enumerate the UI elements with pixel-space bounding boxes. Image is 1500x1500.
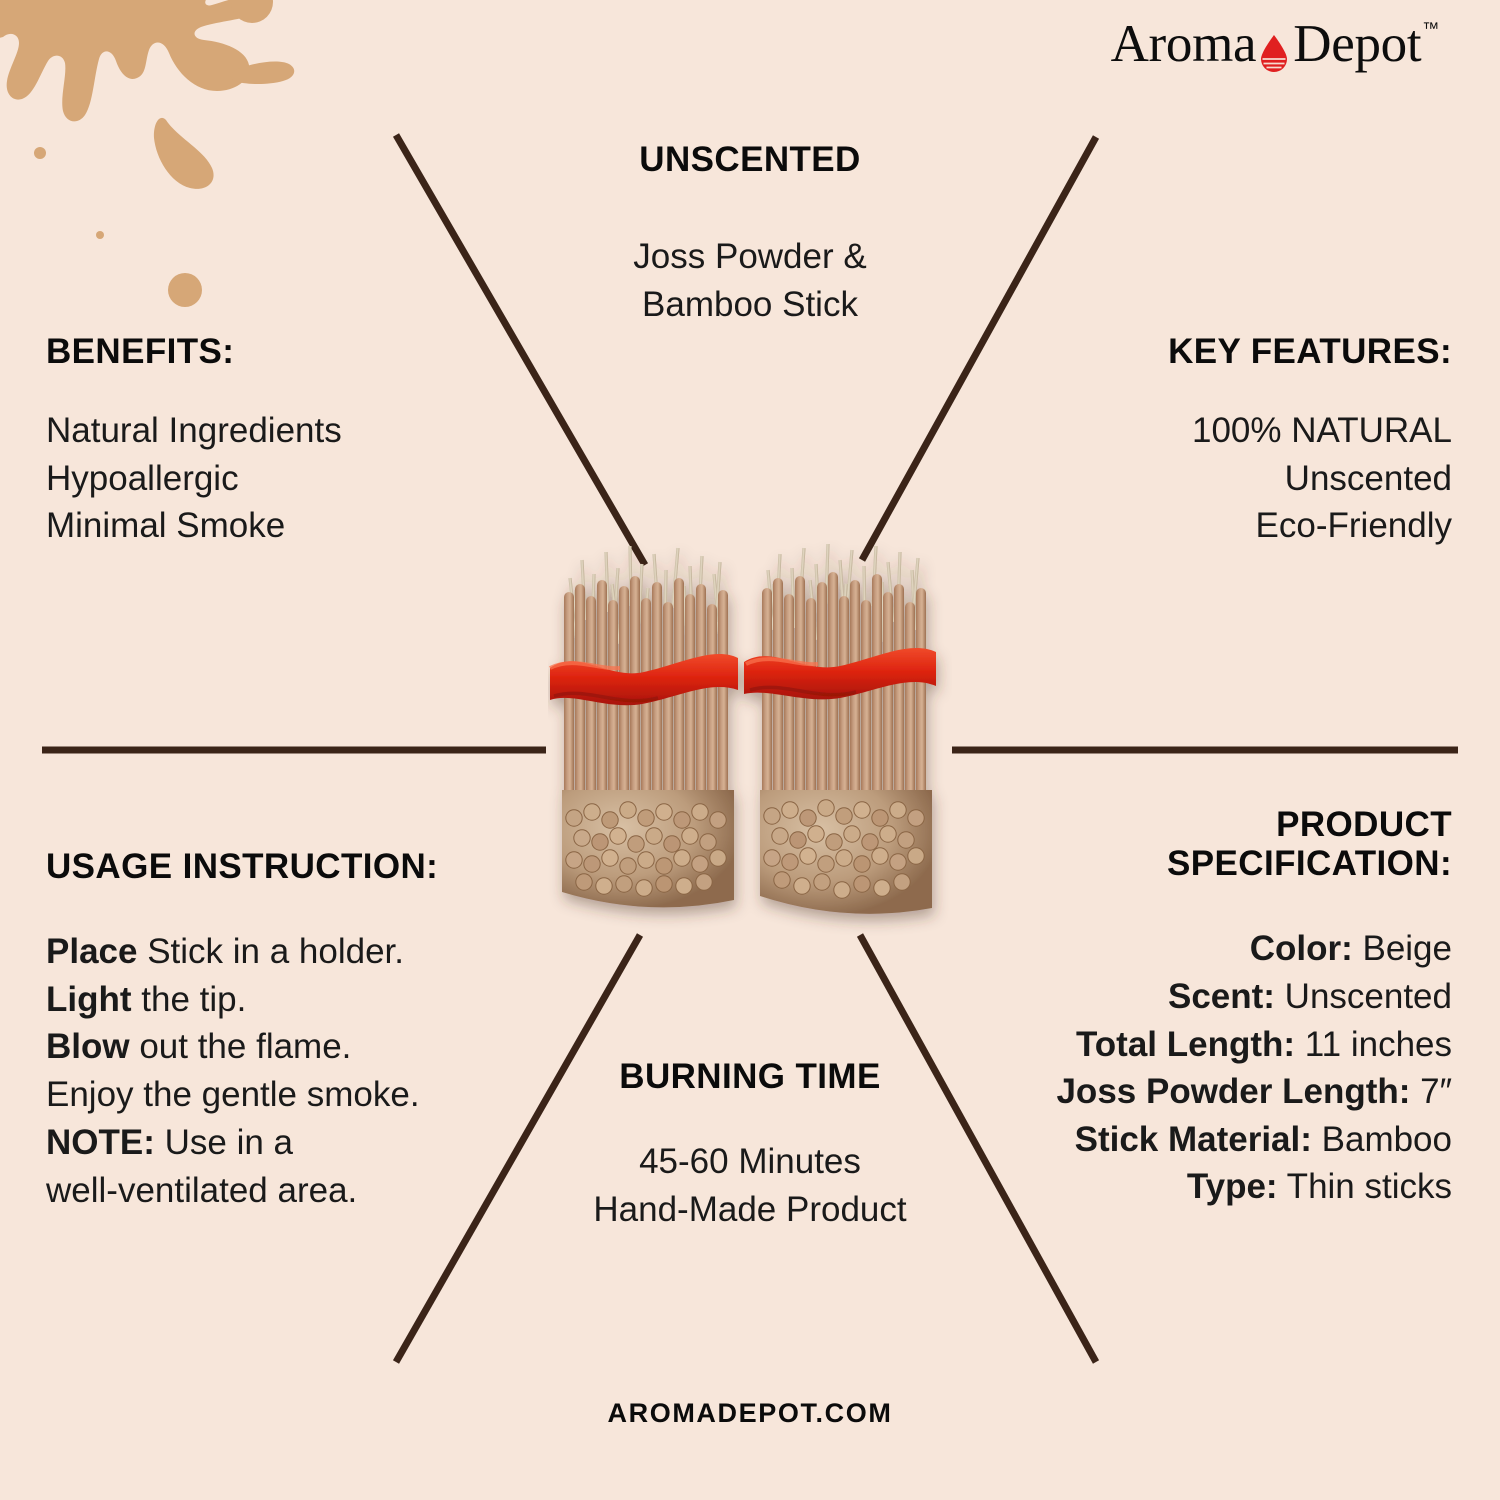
usage-step-3-keyword: Blow	[46, 1027, 130, 1066]
spec-label-joss-powder-length: Joss Powder Length:	[1056, 1072, 1410, 1111]
usage-step-5-text: Use in a	[155, 1123, 293, 1162]
spec-row-color: Color: Beige	[1056, 925, 1452, 973]
burning-time-line-1: 45-60 Minutes	[455, 1138, 1045, 1186]
spec-value-scent: Unscented	[1275, 977, 1452, 1016]
usage-step-3-text: out the flame.	[130, 1027, 352, 1066]
benefits-heading: BENEFITS:	[46, 332, 342, 373]
usage-step-6: well-ventilated area.	[46, 1167, 438, 1215]
spec-row-type: Type: Thin sticks	[1056, 1163, 1452, 1211]
section-burning-time: BURNING TIME 45-60 Minutes Hand-Made Pro…	[455, 1057, 1045, 1233]
brand-name-second: Depot	[1293, 18, 1421, 71]
usage-step-4-text: Enjoy the gentle smoke.	[46, 1075, 420, 1114]
usage-step-3: Blow out the flame.	[46, 1023, 438, 1071]
spec-value-total-length: 11 inches	[1295, 1025, 1452, 1064]
key-features-item-3: Eco-Friendly	[1168, 502, 1452, 550]
brand-name-first: Aroma	[1111, 18, 1257, 71]
usage-step-5: NOTE: Use in a	[46, 1119, 438, 1167]
spec-label-color: Color:	[1250, 929, 1353, 968]
benefits-item-3: Minimal Smoke	[46, 502, 342, 550]
section-usage-instruction: USAGE INSTRUCTION: Place Stick in a hold…	[46, 847, 438, 1215]
trademark-symbol: ™	[1422, 20, 1439, 37]
spec-heading-line-2: SPECIFICATION:	[1056, 844, 1452, 883]
key-features-heading: KEY FEATURES:	[1168, 332, 1452, 373]
spec-label-type: Type:	[1187, 1167, 1278, 1206]
benefits-item-1: Natural Ingredients	[46, 407, 342, 455]
usage-step-1: Place Stick in a holder.	[46, 928, 438, 976]
paint-splatter-decoration	[0, 0, 320, 340]
infographic-canvas: Aroma Depot ™	[0, 0, 1500, 1500]
usage-note-keyword: NOTE:	[46, 1123, 155, 1162]
benefits-item-2: Hypoallergic	[46, 455, 342, 503]
usage-step-2-text: the tip.	[132, 980, 247, 1019]
key-features-item-1: 100% NATURAL	[1168, 407, 1452, 455]
section-unscented: UNSCENTED Joss Powder & Bamboo Stick	[455, 140, 1045, 328]
usage-step-2-keyword: Light	[46, 980, 132, 1019]
spec-label-scent: Scent:	[1168, 977, 1275, 1016]
spec-row-joss-powder-length: Joss Powder Length: 7″	[1056, 1068, 1452, 1116]
spec-value-stick-material: Bamboo	[1312, 1120, 1452, 1159]
spec-heading: PRODUCT SPECIFICATION:	[1056, 805, 1452, 883]
product-image-incense-bundles	[548, 540, 952, 940]
brand-logo: Aroma Depot ™	[1111, 18, 1438, 71]
usage-step-1-keyword: Place	[46, 932, 137, 971]
spec-heading-line-1: PRODUCT	[1056, 805, 1452, 844]
usage-step-4: Enjoy the gentle smoke.	[46, 1071, 438, 1119]
usage-step-2: Light the tip.	[46, 976, 438, 1024]
spec-label-stick-material: Stick Material:	[1075, 1120, 1312, 1159]
spec-row-total-length: Total Length: 11 inches	[1056, 1021, 1452, 1069]
spec-value-color: Beige	[1353, 929, 1452, 968]
unscented-heading: UNSCENTED	[455, 140, 1045, 181]
spec-value-joss-powder-length: 7″	[1410, 1072, 1452, 1111]
usage-heading: USAGE INSTRUCTION:	[46, 847, 438, 888]
unscented-line-2: Bamboo Stick	[455, 281, 1045, 329]
spec-value-type: Thin sticks	[1278, 1167, 1452, 1206]
red-droplet-icon	[1259, 29, 1289, 67]
section-benefits: BENEFITS: Natural Ingredients Hypoallerg…	[46, 332, 342, 550]
section-key-features: KEY FEATURES: 100% NATURAL Unscented Eco…	[1168, 332, 1452, 550]
key-features-item-2: Unscented	[1168, 455, 1452, 503]
section-product-specification: PRODUCT SPECIFICATION: Color: Beige Scen…	[1056, 805, 1452, 1211]
burning-time-heading: BURNING TIME	[455, 1057, 1045, 1098]
usage-step-1-text: Stick in a holder.	[137, 932, 404, 971]
spec-row-stick-material: Stick Material: Bamboo	[1056, 1116, 1452, 1164]
burning-time-line-2: Hand-Made Product	[455, 1186, 1045, 1234]
footer-website-url[interactable]: AROMADEPOT.COM	[0, 1398, 1500, 1429]
spec-row-scent: Scent: Unscented	[1056, 973, 1452, 1021]
spec-label-total-length: Total Length:	[1076, 1025, 1295, 1064]
unscented-line-1: Joss Powder &	[455, 233, 1045, 281]
usage-step-6-text: well-ventilated area.	[46, 1171, 357, 1210]
